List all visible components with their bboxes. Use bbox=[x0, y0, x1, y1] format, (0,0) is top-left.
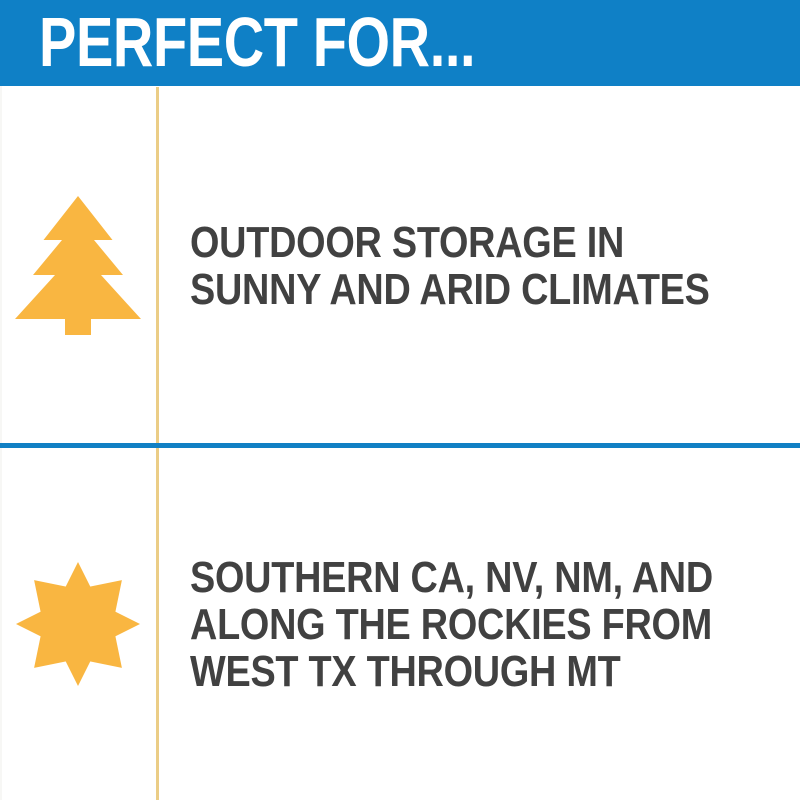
pine-tree-icon bbox=[15, 196, 141, 335]
horizontal-divider bbox=[0, 443, 800, 448]
outdoor-storage-text-cell: OUTDOOR STORAGE IN SUNNY AND ARID CLIMAT… bbox=[156, 219, 800, 313]
list-item: OUTDOOR STORAGE IN SUNNY AND ARID CLIMAT… bbox=[0, 88, 800, 443]
regions-text-cell: SOUTHERN CA, NV, NM, AND ALONG THE ROCKI… bbox=[156, 554, 800, 695]
list-item-label: SOUTHERN CA, NV, NM, AND ALONG THE ROCKI… bbox=[190, 554, 715, 695]
page-title: PERFECT FOR... bbox=[39, 4, 475, 80]
sun-icon-cell bbox=[0, 562, 156, 686]
list-item: SOUTHERN CA, NV, NM, AND ALONG THE ROCKI… bbox=[0, 448, 800, 800]
perfect-for-infographic: PERFECT FOR... OUTDOOR STORAGE IN SUNNY … bbox=[0, 0, 800, 800]
pine-tree-icon-cell bbox=[0, 196, 156, 335]
sun-icon bbox=[16, 562, 140, 686]
list-item-label: OUTDOOR STORAGE IN SUNNY AND ARID CLIMAT… bbox=[190, 219, 715, 313]
header-band: PERFECT FOR... bbox=[0, 0, 800, 86]
